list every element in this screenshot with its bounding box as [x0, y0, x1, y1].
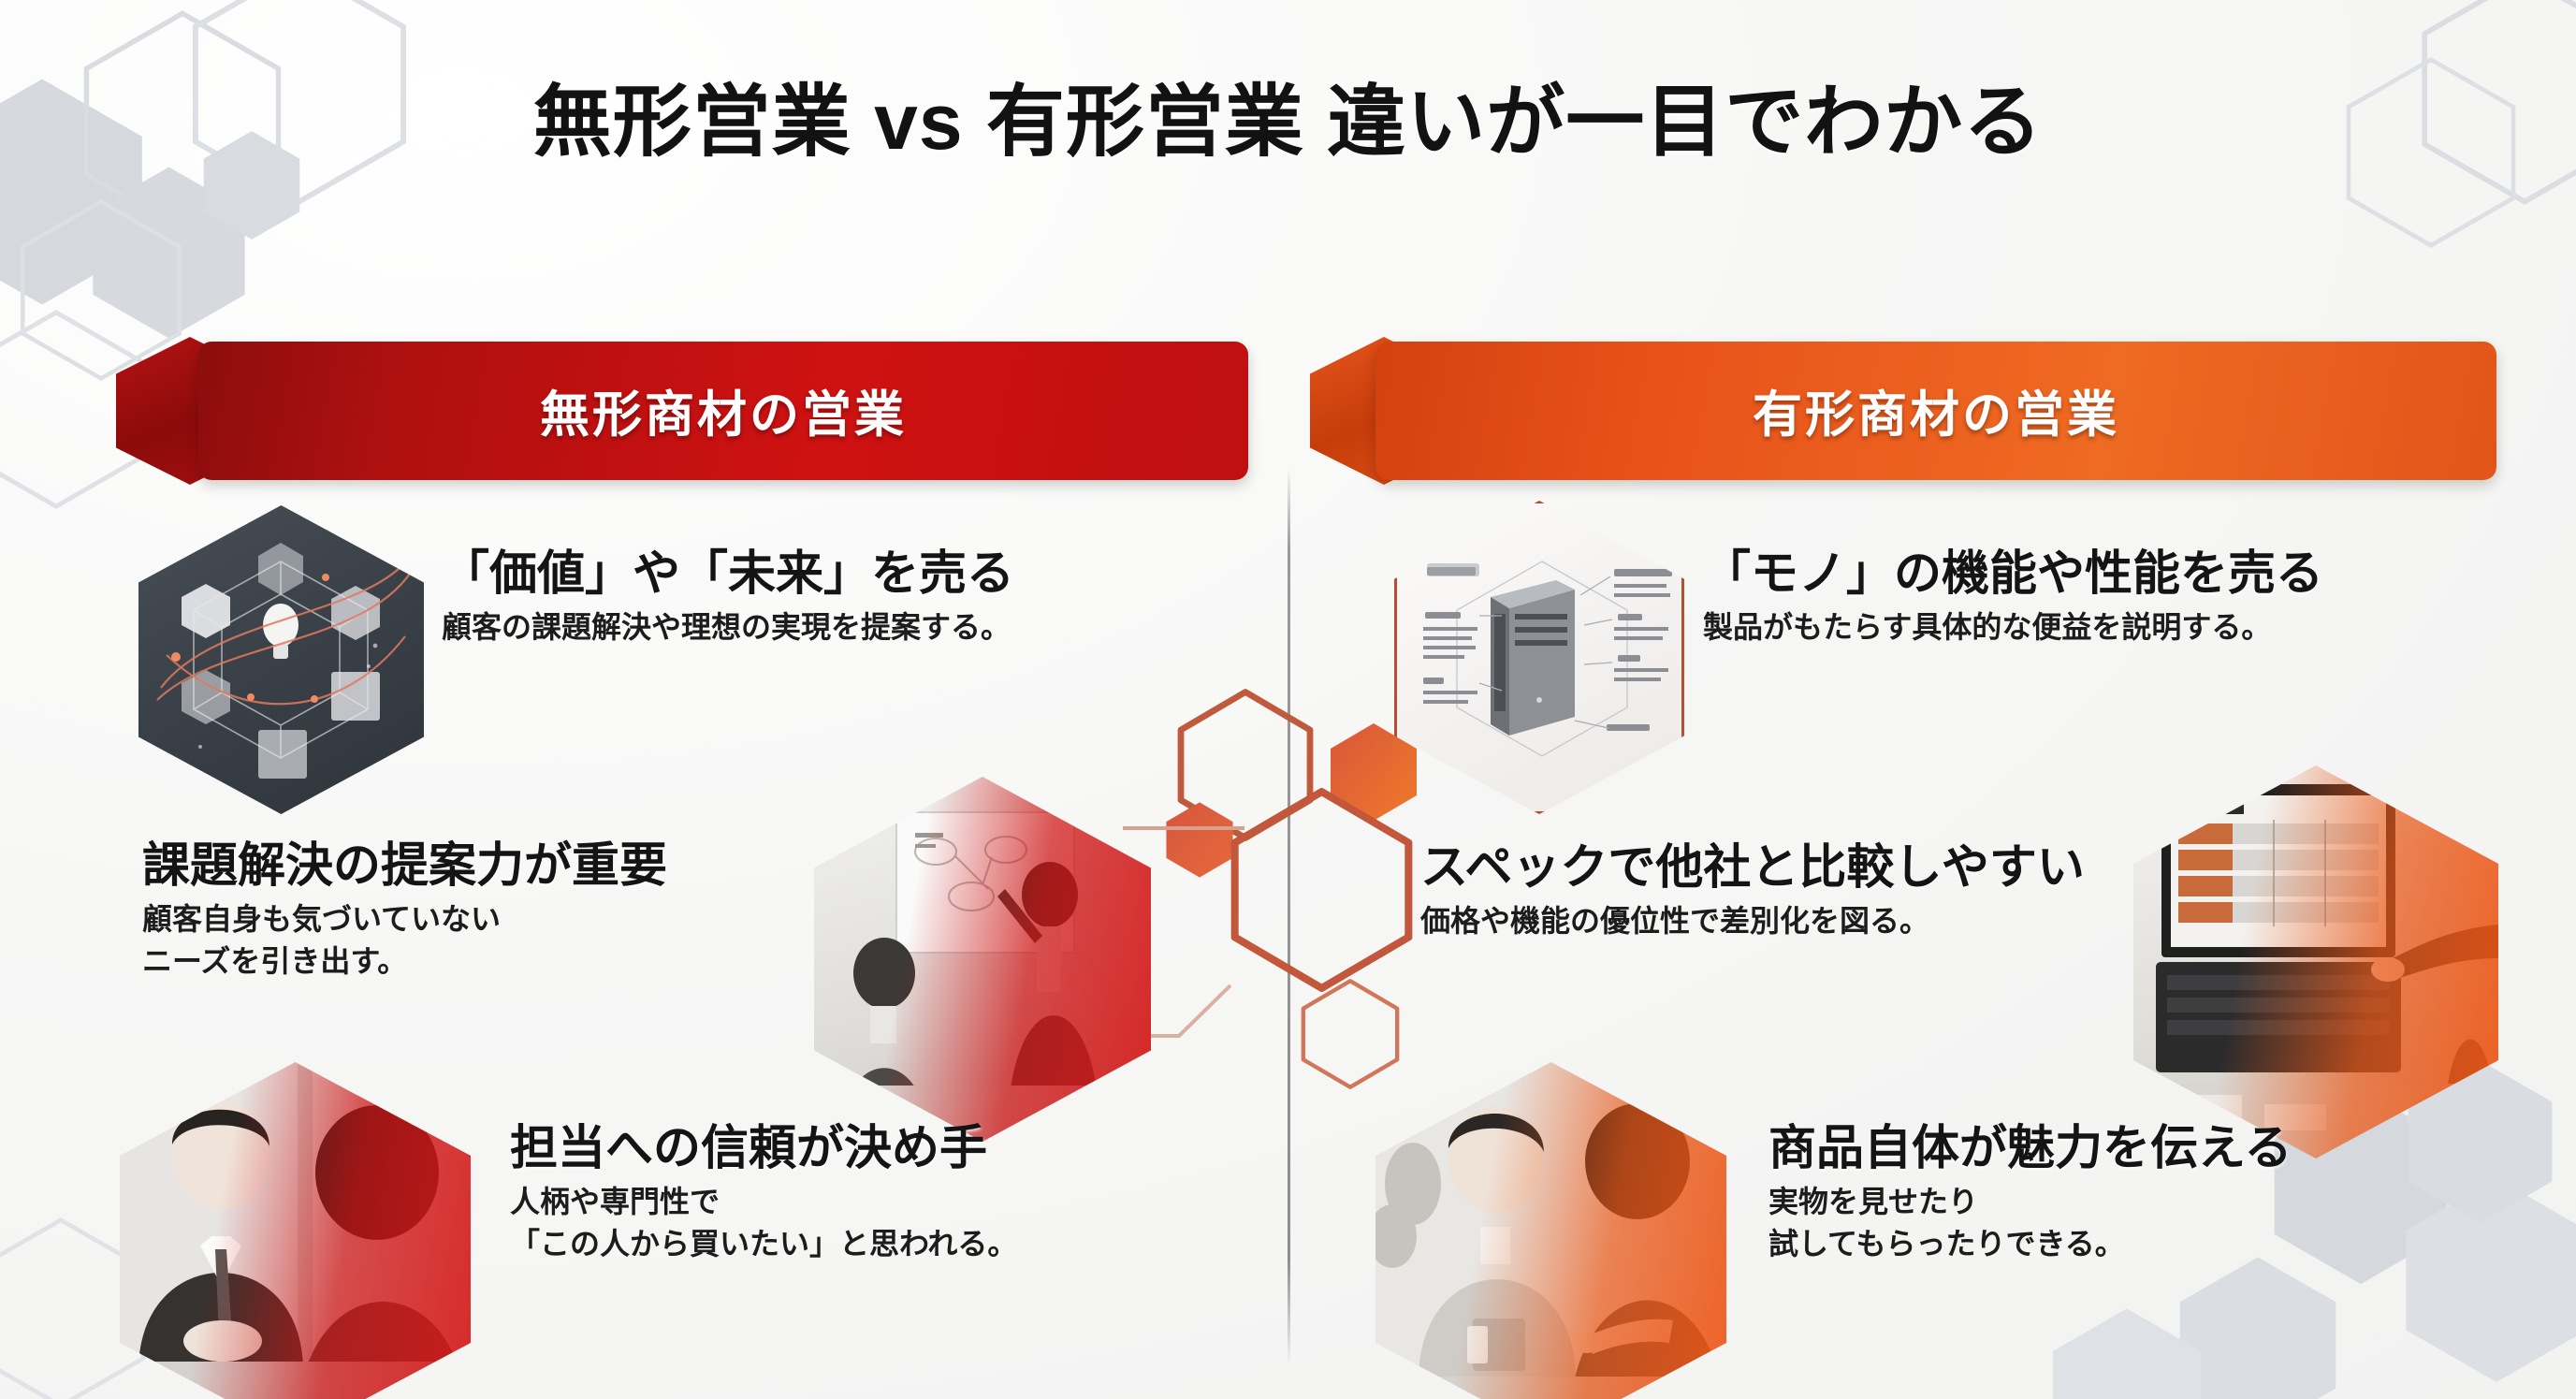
- red-duotone-overlay: [120, 1062, 471, 1399]
- right-item-3: 商品自体が魅力を伝える 実物を見せたり 試してもらったりできる。: [1768, 1123, 2292, 1264]
- slide-canvas: 無形営業 vs 有形営業 違いが一目でわかる 無形商材の営業: [0, 0, 2576, 1399]
- right-item-3-sub-line-2: 試してもらったりできる。: [1768, 1224, 2292, 1264]
- photo-content: [2133, 765, 2498, 1159]
- whiteboard-presentation-photo-hexagon: [814, 777, 1151, 1142]
- decorative-hexagon-outline: [1226, 786, 1418, 994]
- spec-comparison-screen-photo-hexagon: [2133, 765, 2498, 1159]
- right-item-3-heading: 商品自体が魅力を伝える: [1768, 1123, 2292, 1173]
- orange-duotone-overlay: [2133, 765, 2498, 1159]
- left-item-2-sub-line-2: ニーズを引き出す。: [142, 941, 667, 982]
- right-item-1-heading: 「モノ」の機能や性能を売る: [1703, 548, 2323, 599]
- network-idea-hexagon-image: [138, 505, 424, 814]
- center-divider: [1288, 468, 1290, 1366]
- watermark-hexagon: [2398, 1174, 2576, 1386]
- product-spec-hexagon-image: [1394, 501, 1684, 814]
- orange-duotone-overlay: [1375, 1062, 1726, 1399]
- business-meeting-photo-hexagon: [120, 1062, 471, 1399]
- left-item-2-sub-line-1: 顧客自身も気づいていない: [142, 899, 667, 940]
- right-item-1: 「モノ」の機能や性能を売る 製品がもたらす具体的な便益を説明する。: [1703, 548, 2323, 648]
- right-column-banner[interactable]: 有形商材の営業: [1375, 342, 2496, 480]
- left-item-3-sub-line-1: 人柄や専門性で: [510, 1182, 1017, 1222]
- decorative-hexagon-outline: [1299, 978, 1402, 1090]
- watermark-hexagon: [2174, 1254, 2342, 1399]
- left-item-3: 担当への信頼が決め手 人柄や専門性で 「この人から買いたい」と思われる。: [510, 1123, 1017, 1264]
- left-item-1-sub-line-1: 顧客の課題解決や理想の実現を提案する。: [442, 607, 1014, 648]
- left-column-banner[interactable]: 無形商材の営業: [198, 342, 1248, 480]
- page-title: 無形営業 vs 有形営業 違いが一目でわかる: [0, 82, 2576, 161]
- left-item-3-sub-line-2: 「この人から買いたい」と思われる。: [510, 1224, 1017, 1264]
- decorative-hexagon-outline: [1174, 688, 1317, 842]
- photo-content: [1375, 1062, 1726, 1399]
- decorative-connector-line: [1123, 823, 1244, 833]
- hexagon-art: [1397, 503, 1681, 811]
- product-demo-photo-hexagon: [1375, 1062, 1726, 1399]
- right-banner-label: 有形商材の営業: [1753, 375, 2119, 446]
- watermark-hexagon: [2047, 1305, 2206, 1399]
- left-banner-label: 無形商材の営業: [540, 375, 907, 446]
- decorative-hexagon-filled: [1163, 800, 1236, 880]
- left-item-1: 「価値」や「未来」を売る 顧客の課題解決や理想の実現を提案する。: [442, 548, 1014, 648]
- left-item-2: 課題解決の提案力が重要 顧客自身も気づいていない ニーズを引き出す。: [142, 840, 667, 982]
- right-item-2-sub-line-1: 価格や機能の優位性で差別化を図る。: [1420, 901, 2085, 941]
- photo-content: [814, 777, 1151, 1142]
- left-item-2-heading: 課題解決の提案力が重要: [142, 840, 667, 891]
- right-item-2: スペックで他社と比較しやすい 価格や機能の優位性で差別化を図る。: [1420, 842, 2085, 941]
- photo-content: [120, 1062, 471, 1399]
- right-item-3-sub-line-1: 実物を見せたり: [1768, 1182, 2292, 1222]
- left-item-1-heading: 「価値」や「未来」を売る: [442, 548, 1014, 599]
- hexagon-art: [138, 505, 424, 814]
- left-item-3-heading: 担当への信頼が決め手: [510, 1123, 1017, 1173]
- red-duotone-overlay: [814, 777, 1151, 1142]
- watermark-hexagon: [87, 164, 251, 342]
- right-item-2-heading: スペックで他社と比較しやすい: [1420, 842, 2085, 893]
- right-item-1-sub-line-1: 製品がもたらす具体的な便益を説明する。: [1703, 607, 2323, 648]
